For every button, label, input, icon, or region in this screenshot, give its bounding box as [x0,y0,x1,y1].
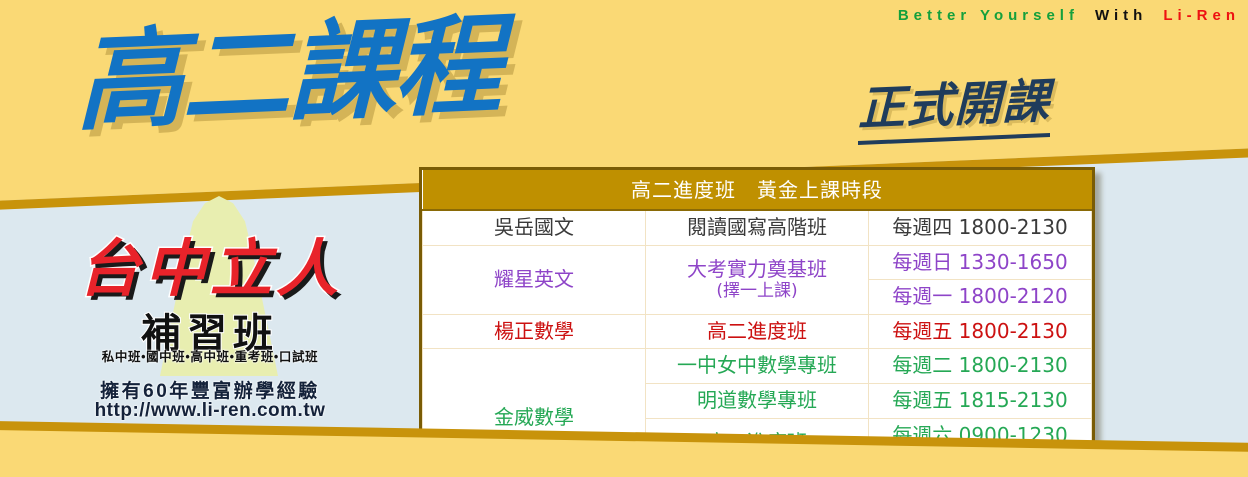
table-row: 楊正數學高二進度班每週五 1800-2130 [423,314,1092,349]
logo-website-url[interactable]: http://www.li-ren.com.tw [20,400,400,422]
logo-experience: 擁有60年豐富辦學經驗 [20,376,400,403]
cell-course: 一中女中數學專班 [646,349,869,384]
cell-course: 高二進度班 [646,314,869,349]
cell-teacher: 楊正數學 [423,314,646,349]
table-row: 耀星英文大考實力奠基班(擇一上課)每週日 1330-1650 [423,245,1092,280]
logo-name: 台中立人 [20,218,400,308]
table-row: 吳岳國文閱讀國寫高階班每週四 1800-2130 [423,210,1092,245]
table-row: 金威數學一中女中數學專班每週二 1800-2130 [423,349,1092,384]
cell-course: 大考實力奠基班(擇一上課) [646,245,869,314]
page-title: 高二課程 [76,9,500,140]
cell-time: 每週一 1800-2120 [869,280,1092,315]
tagline-red: Li-Ren [1163,7,1240,24]
cell-time: 每週四 1800-2130 [869,210,1092,245]
cell-teacher: 耀星英文 [423,245,646,314]
cell-time: 每週二 1800-2130 [869,349,1092,384]
logo: 台中立人 補習班 私中班•國中班•高中班•重考班•口試班 擁有60年豐富辦學經驗… [20,196,400,426]
tagline-green: Better Yourself [898,7,1079,24]
tagline-black: With [1095,7,1147,24]
cell-time: 每週五 1800-2130 [869,314,1092,349]
page-subtitle: 正式開課 [858,62,1050,145]
cell-time: 每週日 1330-1650 [869,245,1092,280]
brand-tagline: Better Yourself With Li-Ren [640,2,1240,28]
poster-canvas: Better Yourself With Li-Ren 高二課程 正式開課 台中… [0,0,1248,477]
schedule-header: 高二進度班 黃金上課時段 [423,170,1092,210]
logo-class-list: 私中班•國中班•高中班•重考班•口試班 [20,346,400,365]
cell-course-note: (擇一上課) [650,281,864,301]
cell-course: 明道數學專班 [646,383,869,418]
table-header-row: 高二進度班 黃金上課時段 [423,170,1092,210]
cell-course: 閱讀國寫高階班 [646,210,869,245]
cell-teacher: 吳岳國文 [423,210,646,245]
cell-time: 每週五 1815-2130 [869,383,1092,418]
